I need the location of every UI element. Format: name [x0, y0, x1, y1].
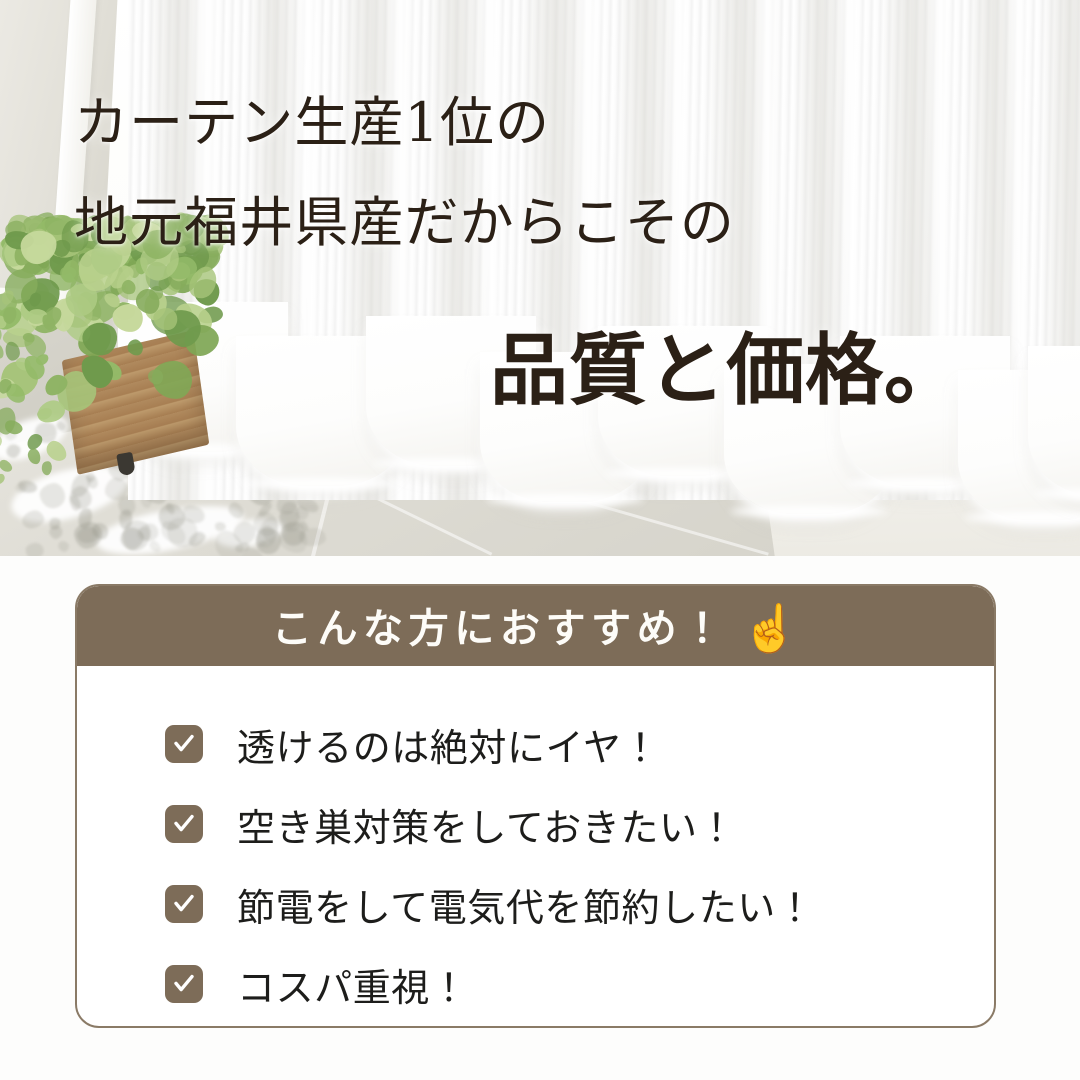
checkbox-checked[interactable] — [165, 965, 203, 1003]
checklist-row[interactable]: 透けるのは絶対にイヤ！ — [165, 704, 994, 784]
ivy-leaf-trailing — [40, 461, 52, 476]
checklist-label: コスパ重視！ — [237, 957, 468, 1012]
checkbox-checked[interactable] — [165, 885, 203, 923]
card-header: こんな方におすすめ！ ☝ — [77, 586, 994, 666]
checklist: 透けるのは絶対にイヤ！空き巣対策をしておきたい！節電をして電気代を節約したい！コ… — [77, 666, 994, 1024]
checklist-row[interactable]: コスパ重視！ — [165, 944, 994, 1024]
ivy-leaf-trailing — [0, 472, 7, 485]
ivy-leaf-trailing — [0, 458, 15, 475]
hero-photo: カーテン生産1位の 地元福井県産だからこその 品質と価格。 — [0, 0, 1080, 556]
hem-light-glow — [964, 512, 1080, 523]
checklist-label: 空き巣対策をしておきたい！ — [237, 797, 736, 852]
checklist-label: 節電をして電気代を節約したい！ — [237, 877, 814, 932]
hem-light-glow — [730, 506, 888, 517]
recommendation-card: こんな方におすすめ！ ☝ 透けるのは絶対にイヤ！空き巣対策をしておきたい！節電を… — [75, 584, 996, 1028]
checkbox-checked[interactable] — [165, 725, 203, 763]
checklist-label: 透けるのは絶対にイヤ！ — [237, 717, 660, 772]
pointing-up-hand-icon: ☝ — [742, 605, 799, 651]
headline-line-2: 地元福井県産だからこその — [74, 178, 735, 257]
card-header-title: こんな方におすすめ！ — [272, 596, 728, 654]
checklist-row[interactable]: 空き巣対策をしておきたい！ — [165, 784, 994, 864]
ivy-plant — [0, 215, 280, 515]
checklist-row[interactable]: 節電をして電気代を節約したい！ — [165, 864, 994, 944]
headline-line-1: カーテン生産1位の — [74, 78, 550, 157]
checkbox-checked[interactable] — [165, 805, 203, 843]
hem-light-glow — [486, 494, 644, 505]
product-promo-page: カーテン生産1位の 地元福井県産だからこその 品質と価格。 こんな方におすすめ！… — [0, 0, 1080, 1080]
ivy-leaf-trailing — [26, 447, 42, 466]
headline-line-3: 品質と価格。 — [490, 308, 963, 420]
